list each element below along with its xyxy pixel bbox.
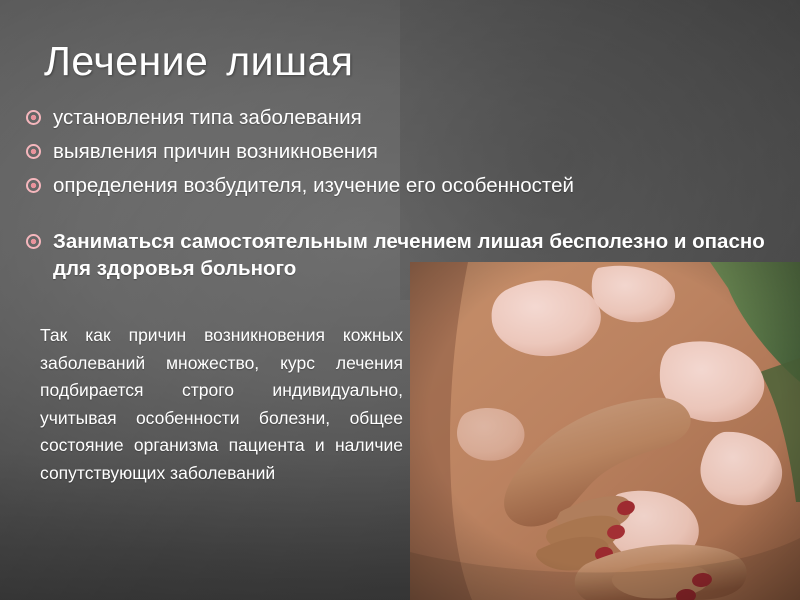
bullet-marker-icon: [26, 178, 41, 193]
list-item: выявления причин возникновения: [26, 138, 786, 165]
bullet-text: установления типа заболевания: [53, 104, 362, 131]
bullet-text: определения возбудителя, изучение его ос…: [53, 172, 574, 199]
body-paragraph: Так как причин возникновения кожных забо…: [40, 322, 403, 487]
bullet-marker-icon: [26, 110, 41, 125]
list-item: установления типа заболевания: [26, 104, 786, 131]
bullet-marker-icon: [26, 234, 41, 249]
list-item: определения возбудителя, изучение его ос…: [26, 172, 786, 199]
clinical-photo-graphic: [410, 262, 800, 600]
slide-title: Лечение лишая: [44, 38, 353, 85]
bullet-text: выявления причин возникновения: [53, 138, 378, 165]
bullet-marker-icon: [26, 144, 41, 159]
slide: Лечение лишая установления типа заболева…: [0, 0, 800, 600]
clinical-photo: [410, 262, 800, 600]
